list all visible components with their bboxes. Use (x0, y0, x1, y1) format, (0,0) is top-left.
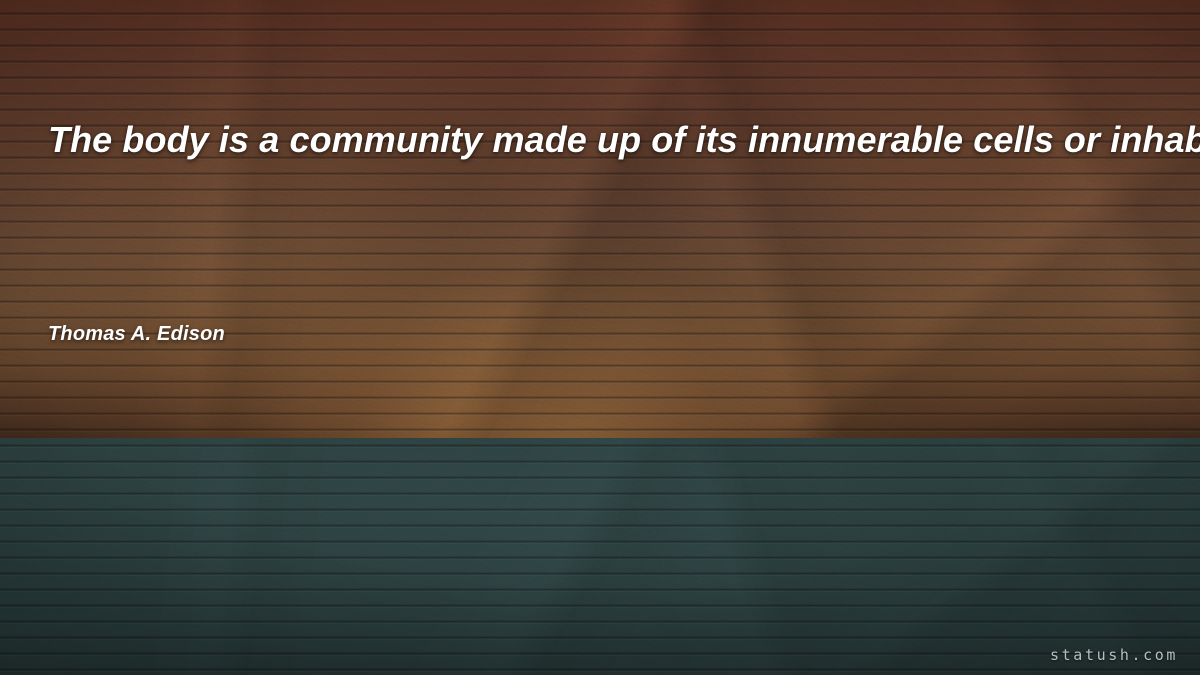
site-watermark: statush.com (1050, 645, 1178, 665)
quote-card: The body is a community made up of its i… (0, 0, 1200, 675)
quote-text: The body is a community made up of its i… (48, 118, 1200, 162)
quote-author: Thomas A. Edison (48, 320, 225, 348)
